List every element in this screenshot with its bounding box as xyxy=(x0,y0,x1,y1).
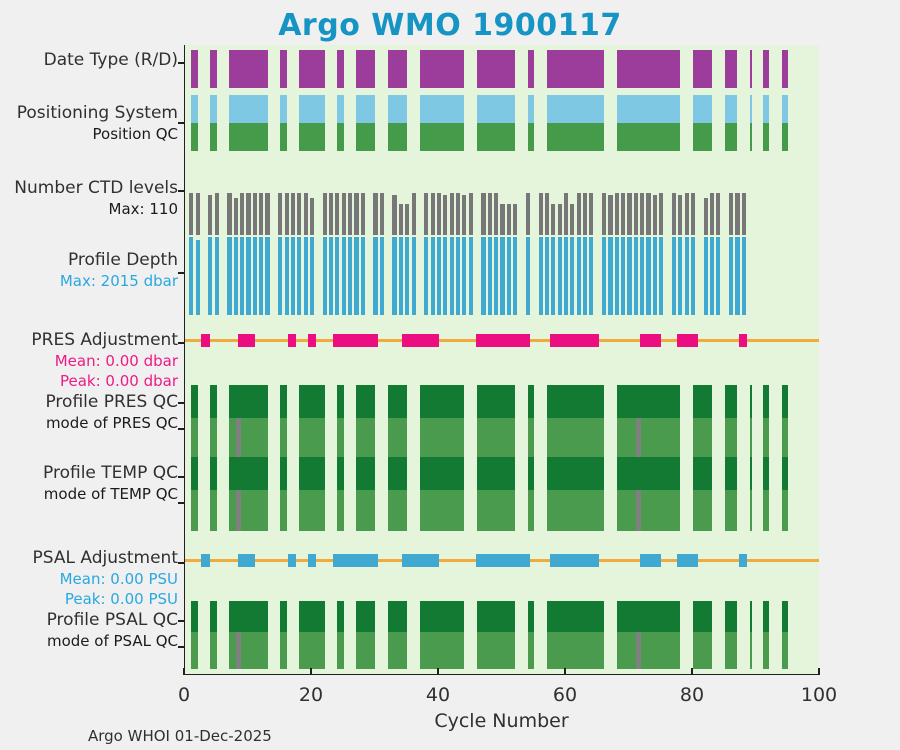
row-label-text: Number CTD levels xyxy=(14,178,178,198)
profile-pres-qc-segment xyxy=(210,385,216,418)
positioning-system-segment xyxy=(388,95,407,123)
pres-adjustment-marker xyxy=(402,334,439,347)
mode-psal-qc-segment xyxy=(337,632,343,669)
position-qc-segment xyxy=(280,123,286,151)
row-sublabel-psal-mean: Mean: 0.00 PSU xyxy=(0,569,178,589)
ctd-levels-bar xyxy=(424,193,428,235)
ctd-levels-bar xyxy=(653,195,657,235)
date-type-segment xyxy=(210,50,216,88)
ctd-levels-bar xyxy=(259,193,263,235)
position-qc-segment xyxy=(617,123,681,151)
profile-pres-qc-segment xyxy=(191,385,197,418)
profile-depth-bar xyxy=(456,237,460,315)
ctd-levels-bar xyxy=(392,195,396,235)
date-type-segment xyxy=(750,50,752,88)
profile-depth-bar xyxy=(234,237,238,315)
position-qc-segment xyxy=(191,123,197,151)
profile-depth-bar xyxy=(259,237,263,315)
profile-depth-bar xyxy=(469,237,473,315)
profile-depth-bar xyxy=(208,237,212,315)
axis-tick-left xyxy=(178,428,185,430)
profile-depth-bar xyxy=(265,237,269,315)
x-axis-label: Cycle Number xyxy=(184,710,819,732)
ctd-levels-bar xyxy=(246,193,250,235)
ctd-levels-bar xyxy=(285,193,289,235)
row-sublabel-mode-psal-qc: mode of PSAL QC xyxy=(0,631,178,651)
position-qc-segment xyxy=(750,123,752,151)
profile-pres-qc-segment xyxy=(528,385,534,418)
position-qc-segment xyxy=(210,123,216,151)
ctd-levels-bar xyxy=(500,204,504,235)
row-sublabel-ctd-max: Max: 110 xyxy=(0,199,178,219)
ctd-levels-bar xyxy=(729,193,733,235)
profile-depth-bar xyxy=(373,237,377,315)
profile-psal-qc-segment xyxy=(420,601,464,632)
profile-depth-bar xyxy=(354,237,358,315)
ctd-levels-bar xyxy=(437,193,441,235)
row-label-psal-adjustment: PSAL Adjustment Mean: 0.00 PSU Peak: 0.0… xyxy=(0,548,178,609)
argo-status-chart: Argo WMO 1900117 Date Type (R/D) Positio… xyxy=(0,0,900,750)
ctd-levels-bar xyxy=(526,193,530,235)
profile-depth-bar xyxy=(399,237,403,315)
ctd-levels-bar xyxy=(265,193,269,235)
track-date-type xyxy=(185,50,819,88)
ctd-levels-bar xyxy=(513,204,517,235)
profile-depth-bar xyxy=(659,237,663,315)
profile-depth-bar xyxy=(392,237,396,315)
mode-temp-qc-segment xyxy=(725,490,738,531)
ctd-levels-bar xyxy=(481,193,485,235)
pres-adjustment-marker xyxy=(333,334,378,347)
mode-psal-qc-segment xyxy=(763,632,769,669)
x-axis-tick-label: 100 xyxy=(789,684,849,706)
profile-depth-bar xyxy=(450,237,454,315)
position-qc-segment xyxy=(229,123,267,151)
profile-temp-qc-segment xyxy=(337,457,343,490)
mode-temp-qc-flag xyxy=(236,490,241,531)
ctd-levels-bar xyxy=(704,198,708,235)
positioning-system-segment xyxy=(280,95,286,123)
mode-psal-qc-segment xyxy=(388,632,407,669)
ctd-levels-bar xyxy=(659,193,663,235)
profile-depth-bar xyxy=(646,237,650,315)
ctd-levels-bar xyxy=(716,193,720,235)
ctd-levels-bar xyxy=(539,193,543,235)
ctd-levels-bar xyxy=(545,193,549,235)
ctd-levels-bar xyxy=(240,193,244,235)
date-type-segment xyxy=(337,50,343,88)
track-profile-temp-qc xyxy=(185,457,819,531)
profile-depth-bar xyxy=(310,237,314,315)
x-axis-tick xyxy=(437,668,439,675)
mode-pres-qc-segment xyxy=(191,418,197,459)
mode-psal-qc-segment xyxy=(299,632,324,669)
track-profile-psal-qc xyxy=(185,601,819,669)
row-label-text: Profile PRES QC xyxy=(45,392,178,412)
ctd-levels-bar xyxy=(431,193,435,235)
mode-psal-qc-segment xyxy=(617,632,681,669)
pres-adjustment-marker xyxy=(288,334,296,347)
profile-depth-bar xyxy=(278,237,282,315)
profile-depth-bar xyxy=(577,237,581,315)
date-type-segment xyxy=(763,50,769,88)
mode-psal-qc-segment xyxy=(420,632,464,669)
row-label-text: PSAL Adjustment xyxy=(33,548,178,568)
mode-psal-qc-segment xyxy=(750,632,752,669)
mode-temp-qc-segment xyxy=(356,490,375,531)
pres-adjustment-marker xyxy=(640,334,661,347)
ctd-levels-bar xyxy=(678,195,682,235)
ctd-levels-bar xyxy=(615,193,619,235)
ctd-levels-bar xyxy=(646,193,650,235)
ctd-levels-bar xyxy=(456,193,460,235)
mode-temp-qc-segment xyxy=(280,490,286,531)
ctd-levels-bar xyxy=(329,193,333,235)
profile-psal-qc-segment xyxy=(782,601,788,632)
row-label-text: Date Type (R/D) xyxy=(44,50,178,70)
mode-temp-qc-segment xyxy=(477,490,515,531)
ctd-levels-bar xyxy=(462,195,466,235)
position-qc-segment xyxy=(763,123,769,151)
mode-psal-qc-segment xyxy=(528,632,534,669)
row-label-text: Positioning System xyxy=(17,103,178,123)
ctd-levels-bar xyxy=(602,193,606,235)
row-label-number-ctd-levels: Number CTD levels Max: 110 xyxy=(0,178,178,219)
axis-tick-left xyxy=(178,476,185,478)
date-type-segment xyxy=(477,50,515,88)
axis-tick-left xyxy=(178,646,185,648)
position-qc-segment xyxy=(299,123,324,151)
profile-temp-qc-segment xyxy=(782,457,788,490)
profile-pres-qc-segment xyxy=(388,385,407,418)
position-qc-segment xyxy=(420,123,464,151)
ctd-levels-bar xyxy=(253,193,257,235)
row-label-profile-psal-qc: Profile PSAL QC mode of PSAL QC xyxy=(0,610,178,651)
psal-adjustment-marker xyxy=(288,554,296,567)
date-type-segment xyxy=(229,50,267,88)
x-axis-tick xyxy=(564,668,566,675)
profile-temp-qc-segment xyxy=(693,457,712,490)
profile-depth-bar xyxy=(380,237,384,315)
mode-pres-qc-segment xyxy=(547,418,604,459)
profile-depth-bar xyxy=(424,237,428,315)
row-sublabel-mode-temp-qc: mode of TEMP QC xyxy=(0,484,178,504)
psal-adjustment-marker xyxy=(677,554,698,567)
profile-temp-qc-segment xyxy=(420,457,464,490)
mode-psal-qc-flag xyxy=(636,632,641,669)
profile-psal-qc-segment xyxy=(280,601,286,632)
track-positioning-system xyxy=(185,95,819,151)
mode-temp-qc-segment xyxy=(420,490,464,531)
profile-depth-bar xyxy=(564,237,568,315)
ctd-levels-bar xyxy=(323,193,327,235)
mode-temp-qc-segment xyxy=(617,490,681,531)
page-title: Argo WMO 1900117 xyxy=(0,8,900,43)
positioning-system-segment xyxy=(299,95,324,123)
ctd-levels-bar xyxy=(380,193,384,235)
profile-depth-bar xyxy=(329,237,333,315)
mode-temp-qc-segment xyxy=(337,490,343,531)
ctd-levels-bar xyxy=(488,193,492,235)
profile-depth-bar xyxy=(526,237,530,315)
profile-depth-bar xyxy=(215,237,219,315)
pres-adjustment-marker xyxy=(238,334,254,347)
profile-depth-bar xyxy=(361,237,365,315)
position-qc-segment xyxy=(693,123,712,151)
profile-depth-bar xyxy=(507,237,511,315)
mode-psal-qc-segment xyxy=(280,632,286,669)
mode-psal-qc-segment xyxy=(782,632,788,669)
date-type-segment xyxy=(528,50,534,88)
profile-temp-qc-segment xyxy=(763,457,769,490)
row-label-profile-temp-qc: Profile TEMP QC mode of TEMP QC xyxy=(0,463,178,504)
ctd-levels-bar xyxy=(621,193,625,235)
row-sublabel-pres-mean: Mean: 0.00 dbar xyxy=(0,351,178,371)
mode-temp-qc-segment xyxy=(763,490,769,531)
track-profile-pres-qc xyxy=(185,385,819,459)
mode-pres-qc-segment xyxy=(693,418,712,459)
ctd-levels-bar xyxy=(335,193,339,235)
positioning-system-segment xyxy=(782,95,788,123)
profile-psal-qc-segment xyxy=(725,601,738,632)
profile-depth-bar xyxy=(323,237,327,315)
mode-pres-qc-segment xyxy=(356,418,375,459)
mode-pres-qc-segment xyxy=(782,418,788,459)
profile-depth-bar xyxy=(729,237,733,315)
x-axis-tick-label: 80 xyxy=(662,684,722,706)
profile-temp-qc-segment xyxy=(725,457,738,490)
profile-depth-bar xyxy=(621,237,625,315)
mode-pres-qc-segment xyxy=(725,418,738,459)
row-label-text: PRES Adjustment xyxy=(31,330,178,350)
date-type-segment xyxy=(191,50,197,88)
profile-depth-bar xyxy=(678,237,682,315)
x-axis-tick-label: 60 xyxy=(535,684,595,706)
mode-psal-qc-segment xyxy=(210,632,216,669)
profile-depth-bar xyxy=(742,237,746,315)
ctd-levels-bar xyxy=(215,193,219,235)
profile-depth-bar xyxy=(551,237,555,315)
ctd-levels-bar xyxy=(507,204,511,235)
profile-pres-qc-segment xyxy=(299,385,324,418)
row-sublabel-position-qc: Position QC xyxy=(0,124,178,144)
positioning-system-segment xyxy=(528,95,534,123)
psal-adjustment-marker xyxy=(550,554,599,567)
mode-pres-qc-segment xyxy=(617,418,681,459)
mode-temp-qc-segment xyxy=(750,490,752,531)
ctd-levels-bar xyxy=(342,193,346,235)
track-number-ctd-levels xyxy=(185,193,819,235)
profile-psal-qc-segment xyxy=(477,601,515,632)
profile-depth-bar xyxy=(494,237,498,315)
date-type-segment xyxy=(388,50,407,88)
profile-depth-bar xyxy=(431,237,435,315)
ctd-levels-bar xyxy=(710,193,714,235)
profile-temp-qc-segment xyxy=(356,457,375,490)
mode-pres-qc-segment xyxy=(528,418,534,459)
mode-temp-qc-segment xyxy=(191,490,197,531)
profile-psal-qc-segment xyxy=(763,601,769,632)
ctd-levels-bar xyxy=(469,193,473,235)
profile-psal-qc-segment xyxy=(299,601,324,632)
mode-psal-qc-segment xyxy=(693,632,712,669)
ctd-levels-bar xyxy=(494,193,498,235)
mode-psal-qc-segment xyxy=(356,632,375,669)
row-label-positioning-system: Positioning System Position QC xyxy=(0,103,178,144)
profile-psal-qc-segment xyxy=(693,601,712,632)
mode-temp-qc-segment xyxy=(210,490,216,531)
ctd-levels-bar xyxy=(742,193,746,235)
pres-adjustment-marker xyxy=(739,334,747,347)
row-label-text: Profile Depth xyxy=(68,250,178,270)
profile-psal-qc-segment xyxy=(210,601,216,632)
pres-adjustment-marker xyxy=(476,334,529,347)
profile-temp-qc-segment xyxy=(210,457,216,490)
ctd-levels-bar xyxy=(310,198,314,235)
profile-depth-bar xyxy=(348,237,352,315)
positioning-system-segment xyxy=(337,95,343,123)
ctd-levels-bar xyxy=(227,193,231,235)
pres-adjustment-marker xyxy=(550,334,599,347)
profile-depth-bar xyxy=(583,237,587,315)
ctd-levels-bar xyxy=(297,193,301,235)
profile-depth-bar xyxy=(691,237,695,315)
mode-temp-qc-segment xyxy=(299,490,324,531)
profile-psal-qc-segment xyxy=(388,601,407,632)
date-type-segment xyxy=(356,50,375,88)
profile-depth-bar xyxy=(704,237,708,315)
profile-psal-qc-segment xyxy=(229,601,267,632)
profile-temp-qc-segment xyxy=(280,457,286,490)
x-axis-tick xyxy=(691,668,693,675)
mode-psal-qc-segment xyxy=(191,632,197,669)
date-type-segment xyxy=(547,50,604,88)
profile-pres-qc-segment xyxy=(547,385,604,418)
axis-tick-left xyxy=(178,502,185,504)
profile-pres-qc-segment xyxy=(280,385,286,418)
profile-pres-qc-segment xyxy=(763,385,769,418)
row-label-pres-adjustment: PRES Adjustment Mean: 0.00 dbar Peak: 0.… xyxy=(0,330,178,391)
profile-depth-bar xyxy=(602,237,606,315)
mode-pres-qc-segment xyxy=(477,418,515,459)
ctd-levels-bar xyxy=(608,195,612,235)
profile-psal-qc-segment xyxy=(337,601,343,632)
position-qc-segment xyxy=(547,123,604,151)
mode-psal-qc-segment xyxy=(547,632,604,669)
profile-depth-bar xyxy=(685,237,689,315)
ctd-levels-bar xyxy=(558,204,562,235)
mode-temp-qc-flag xyxy=(636,490,641,531)
date-type-segment xyxy=(299,50,324,88)
profile-temp-qc-segment xyxy=(617,457,681,490)
psal-adjustment-marker xyxy=(201,554,209,567)
profile-depth-bar xyxy=(716,237,720,315)
profile-depth-bar xyxy=(246,237,250,315)
track-psal-adjustment xyxy=(185,549,819,571)
profile-depth-bar xyxy=(634,237,638,315)
profile-pres-qc-segment xyxy=(750,385,752,418)
x-axis-tick-label: 0 xyxy=(154,684,214,706)
profile-depth-bar xyxy=(481,237,485,315)
ctd-levels-bar xyxy=(551,204,555,235)
mode-temp-qc-segment xyxy=(388,490,407,531)
ctd-levels-bar xyxy=(735,193,739,235)
ctd-levels-bar xyxy=(234,198,238,235)
positioning-system-segment xyxy=(420,95,464,123)
profile-depth-bar xyxy=(437,237,441,315)
ctd-levels-bar xyxy=(627,193,631,235)
profile-depth-bar xyxy=(539,237,543,315)
pres-adjustment-marker xyxy=(308,334,316,347)
profile-depth-bar xyxy=(615,237,619,315)
footer-credit: Argo WHOI 01-Dec-2025 xyxy=(88,727,272,745)
row-sublabel-mode-pres-qc: mode of PRES QC xyxy=(0,413,178,433)
date-type-segment xyxy=(782,50,788,88)
mode-pres-qc-segment xyxy=(388,418,407,459)
profile-depth-bar xyxy=(443,237,447,315)
date-type-segment xyxy=(725,50,738,88)
positioning-system-segment xyxy=(356,95,375,123)
ctd-levels-bar xyxy=(354,193,358,235)
profile-depth-bar xyxy=(227,237,231,315)
mode-pres-qc-segment xyxy=(750,418,752,459)
row-label-text: Profile TEMP QC xyxy=(43,463,178,483)
profile-depth-bar xyxy=(653,237,657,315)
position-qc-segment xyxy=(528,123,534,151)
profile-depth-bar xyxy=(297,237,301,315)
profile-temp-qc-segment xyxy=(547,457,604,490)
profile-depth-bar xyxy=(304,237,308,315)
profile-depth-bar xyxy=(545,237,549,315)
positioning-system-segment xyxy=(763,95,769,123)
profile-pres-qc-segment xyxy=(356,385,375,418)
ctd-levels-bar xyxy=(564,193,568,235)
positioning-system-segment xyxy=(547,95,604,123)
mode-temp-qc-segment xyxy=(782,490,788,531)
pres-adjustment-marker xyxy=(677,334,698,347)
positioning-system-segment xyxy=(210,95,216,123)
mode-temp-qc-segment xyxy=(528,490,534,531)
axis-tick-left xyxy=(178,402,185,404)
positioning-system-segment xyxy=(693,95,712,123)
track-pres-adjustment xyxy=(185,329,819,351)
ctd-levels-bar xyxy=(443,195,447,235)
profile-depth-bar xyxy=(462,237,466,315)
axis-tick-left xyxy=(178,190,185,192)
ctd-levels-bar xyxy=(373,193,377,235)
positioning-system-segment xyxy=(750,95,752,123)
psal-adjustment-marker xyxy=(238,554,254,567)
ctd-levels-bar xyxy=(278,193,282,235)
mode-pres-qc-segment xyxy=(337,418,343,459)
psal-adjustment-marker xyxy=(739,554,747,567)
x-axis-tick-label: 20 xyxy=(281,684,341,706)
profile-depth-bar xyxy=(488,237,492,315)
axis-tick-left xyxy=(178,562,185,564)
position-qc-segment xyxy=(337,123,343,151)
ctd-levels-bar xyxy=(691,193,695,235)
profile-depth-bar xyxy=(405,237,409,315)
ctd-levels-bar xyxy=(450,193,454,235)
profile-pres-qc-segment xyxy=(477,385,515,418)
mode-temp-qc-segment xyxy=(693,490,712,531)
ctd-levels-bar xyxy=(577,193,581,235)
psal-adjustment-marker xyxy=(402,554,439,567)
profile-psal-qc-segment xyxy=(191,601,197,632)
profile-psal-qc-segment xyxy=(617,601,681,632)
ctd-levels-bar xyxy=(583,193,587,235)
ctd-levels-bar xyxy=(589,193,593,235)
